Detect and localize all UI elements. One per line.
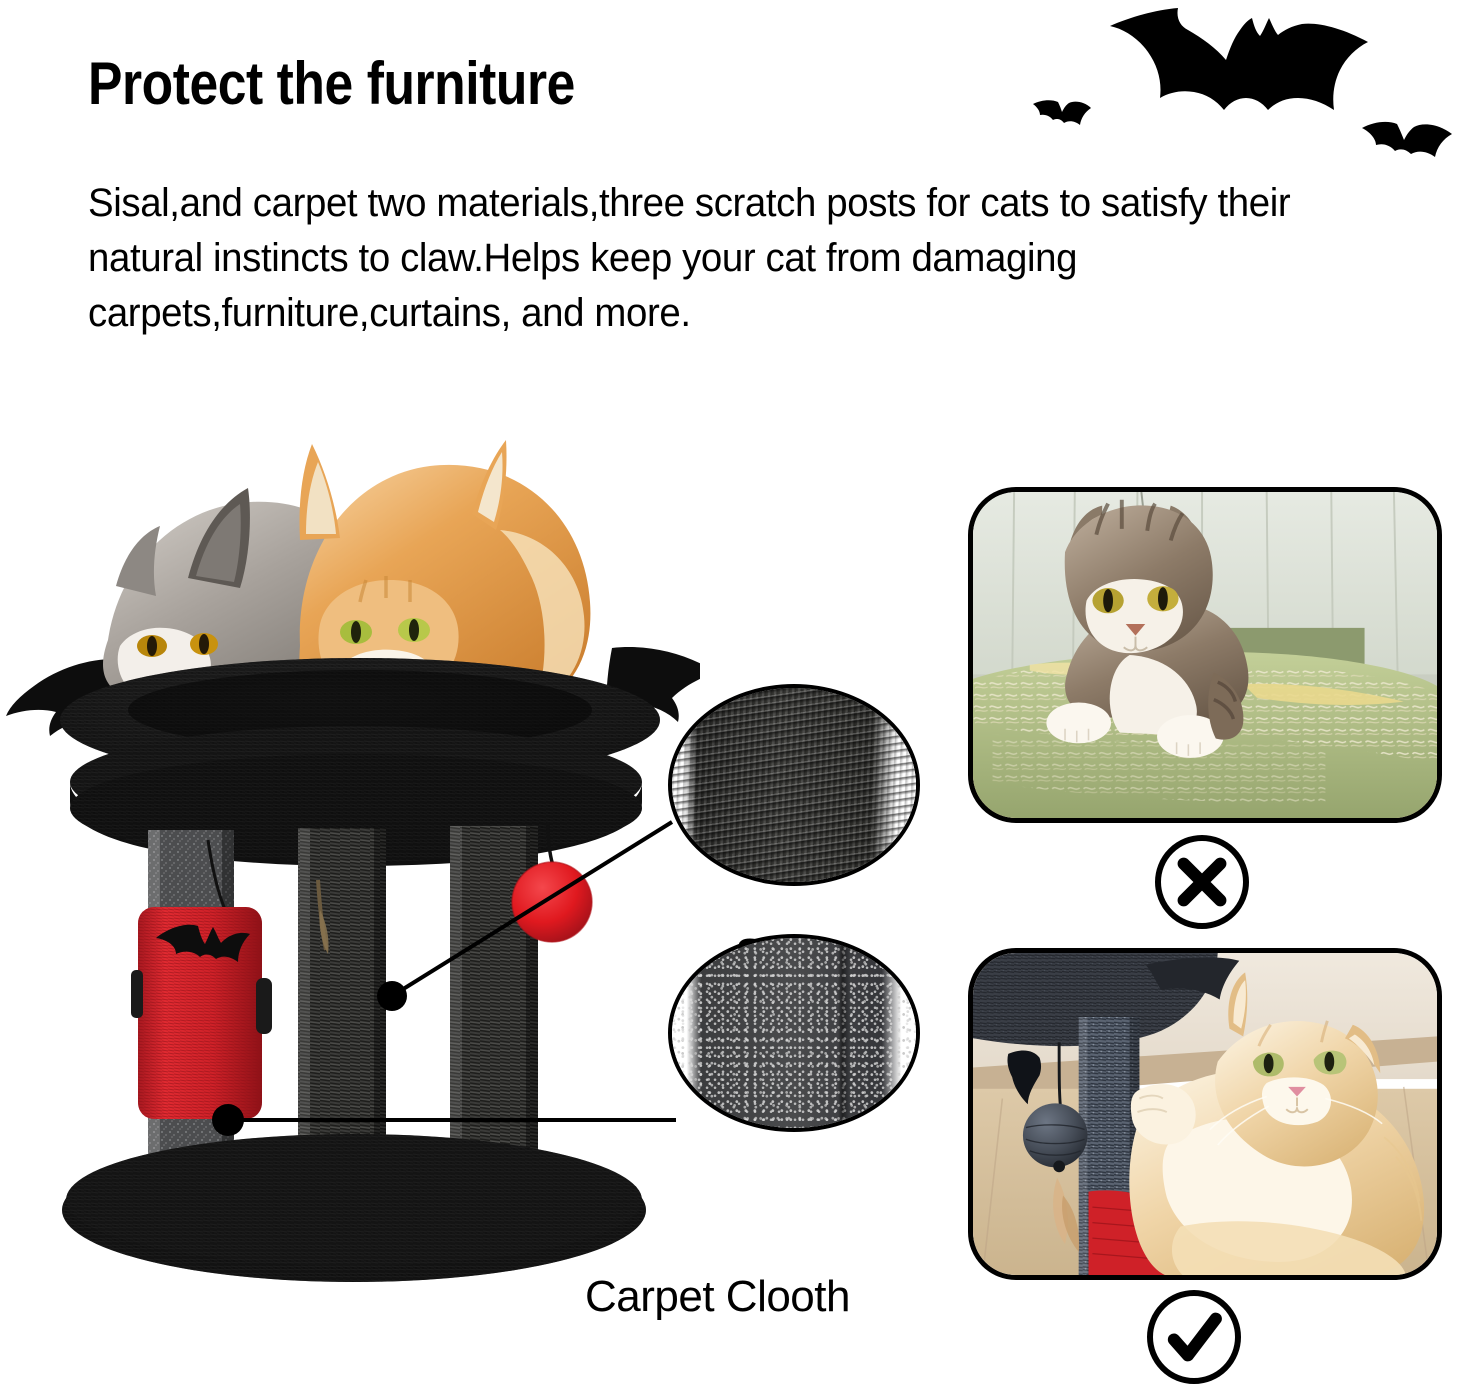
self-groomer-red <box>131 907 272 1119</box>
sisal-ball-toy <box>1023 1103 1088 1167</box>
base-platform <box>62 1134 646 1282</box>
bat-silhouette-small-left-icon <box>1031 96 1093 136</box>
material-swatch-carpet <box>668 934 920 1132</box>
page-description: Sisal,and carpet two materials,three scr… <box>88 176 1365 340</box>
bat-silhouette-small-right-icon <box>1359 118 1455 170</box>
carpet-cloth-texture <box>672 938 916 1128</box>
sisal-rope-texture <box>672 688 916 882</box>
bat-silhouette-large-icon <box>1106 4 1376 144</box>
material-swatch-sisal <box>668 684 920 886</box>
page-title: Protect the furniture <box>88 52 575 115</box>
material-label-carpet: Carpet Clooth <box>585 1272 850 1322</box>
product-photo-cat-tree <box>0 410 700 1360</box>
photo-cat-using-post <box>968 948 1442 1280</box>
circled-x-icon <box>1155 835 1249 929</box>
photo-damaged-sofa <box>968 487 1442 823</box>
circled-check-icon <box>1147 1290 1241 1384</box>
